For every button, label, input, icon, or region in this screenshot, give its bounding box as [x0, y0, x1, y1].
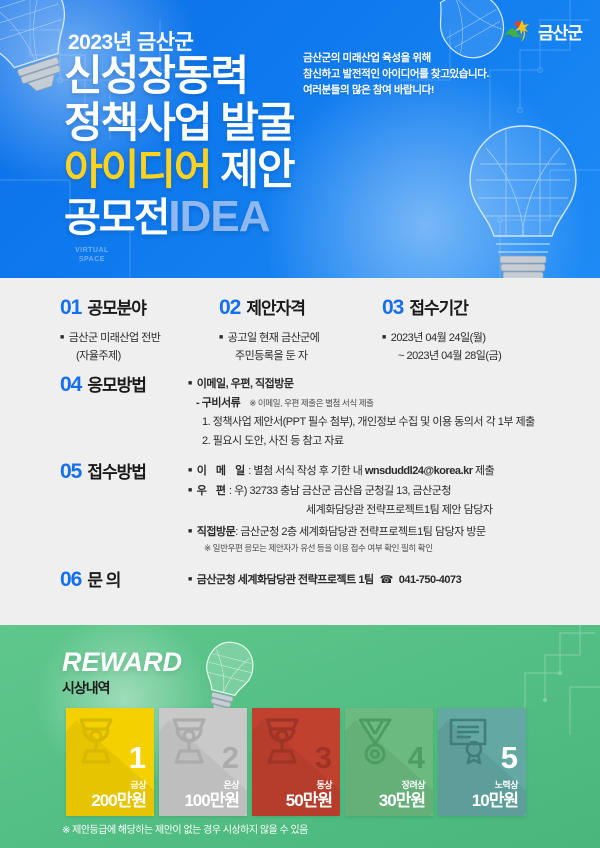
reward-card-4: 4 장려상 30만원 — [345, 708, 433, 816]
section-05-content: 이 메 일: 별첨 서식 작성 후 기한 내 wnsduddl24@korea.… — [188, 458, 494, 554]
trophy-icon — [75, 716, 117, 766]
title-line-4-en: IDEA — [168, 192, 269, 241]
title-line-4-ko: 공모전 — [64, 196, 168, 240]
card-2-amount: 100만원 — [184, 786, 239, 811]
section-05-visit-label: 직접방문 — [197, 523, 235, 542]
section-04-number: 04 — [60, 373, 81, 397]
section-04-docs-header: - 구비서류 ※ 이메일, 우편 제출은 별첨 서식 제출 — [188, 394, 535, 413]
trophy-icon — [168, 716, 210, 766]
section-04-docs-item-2: 2. 필요시 도안, 사진 등 참고 자료 — [188, 432, 535, 451]
title-highlight-idea: 아이디어 — [64, 146, 211, 193]
certificate-icon — [447, 716, 491, 766]
reward-card-3: 3 동상 50만원 — [252, 708, 340, 816]
section-05-visit-note: ※ 일반우편 응모는 제안자가 유선 등을 이용 접수 여부 확인 필히 확인 — [188, 542, 494, 554]
section-05-heading: 05 접수방법 — [60, 458, 188, 484]
section-02-line-2: 주민등록을 둔 자 — [219, 347, 319, 365]
section-03-line-1: 2023년 04월 24일(월) — [382, 329, 501, 347]
section-04-content: 이메일, 우편, 직접방문 - 구비서류 ※ 이메일, 우편 제출은 별첨 서식… — [188, 371, 535, 451]
section-03-heading: 03 접수기간 — [382, 294, 501, 320]
section-03-line-2: ~ 2023년 04월 28일(금) — [382, 347, 501, 365]
card-4-amount: 30만원 — [379, 786, 425, 811]
section-02-title: 제안자격 — [246, 294, 305, 319]
section-05-email-address: wnsduddl24@korea.kr — [365, 465, 473, 477]
reward-note: ※ 제안등급에 해당하는 제안이 없는 경우 시상하지 않을 수 있음 — [62, 821, 308, 836]
watermark-line-2: SPACE — [75, 255, 109, 264]
section-04-docs-label: - 구비서류 — [196, 394, 240, 413]
section-05-email-row: 이 메 일: 별첨 서식 작성 후 기한 내 wnsduddl24@korea.… — [188, 461, 494, 481]
section-05-title: 접수방법 — [87, 458, 146, 483]
section-01-line-1: 금산군 미래산업 전반 — [60, 329, 160, 347]
logo-label: 금산군 — [538, 19, 582, 44]
telephone-icon: ☎ — [380, 574, 393, 586]
title-line-3-rest: 제안 — [211, 146, 294, 193]
section-01-lines: 금산군 미래산업 전반 (자율주제) — [60, 329, 160, 365]
trophy-icon — [261, 716, 303, 766]
section-04-main: 이메일, 우편, 직접방문 — [188, 374, 535, 394]
card-4-rank: 4 — [408, 742, 425, 773]
section-05-number: 05 — [60, 460, 81, 484]
poster-root: 금산군 2023년 금산군 금산군의 미래산업 육성을 위해 참신하고 발전적인… — [0, 0, 600, 848]
section-03-jeopsu-gigan: 03 접수기간 2023년 04월 24일(월) ~ 2023년 04월 28일… — [382, 294, 501, 365]
reward-title-en: REWARD — [62, 647, 182, 677]
medal-icon — [354, 716, 396, 768]
section-05-email-label: 이 메 일 — [197, 462, 248, 481]
section-05-email-prefix: : 별첨 서식 작성 후 기한 내 — [248, 465, 365, 477]
reward-card-5: 5 노력상 10만원 — [438, 708, 526, 816]
section-06-phone: 041-750-4073 — [399, 574, 462, 586]
section-06-contact-row: 금산군청 세계화담당관 전략프로젝트 1팀☎041-750-4073 — [188, 570, 461, 590]
title-line-1: 신성장동력 — [64, 52, 484, 99]
section-02-line-1: 공고일 현재 금산군에 — [219, 329, 319, 347]
title-line-2: 정책사업 발굴 — [64, 99, 484, 146]
card-3-amount: 50만원 — [286, 786, 332, 811]
reward-card-1: 1 금상 200만원 — [66, 708, 154, 816]
section-06-content: 금산군청 세계화담당관 전략프로젝트 1팀☎041-750-4073 — [188, 566, 461, 590]
section-05-visit-text: : 금산군청 2층 세계화담당관 전략프로젝트1팀 담당자 방문 — [235, 526, 485, 538]
section-03-title: 접수기간 — [409, 294, 468, 319]
section-05-post-label: 우 편 — [197, 482, 229, 501]
card-1-rank: 1 — [129, 742, 146, 773]
section-04-eungmo-bangbeop: 04 응모방법 이메일, 우편, 직접방문 - 구비서류 ※ 이메일, 우편 제… — [60, 371, 535, 451]
header-title: 신성장동력 정책사업 발굴 아이디어 제안 공모전IDEA — [64, 52, 484, 242]
watermark-line-1: VIRTUAL — [75, 246, 109, 255]
section-05-post-line-1: : 우) 32733 충남 금산군 금산읍 군청길 13, 금산군청 — [229, 485, 451, 497]
section-05-visit-row: 직접방문: 금산군청 2층 세계화담당관 전략프로젝트1팀 담당자 방문 — [188, 522, 494, 542]
gumsan-mountain-logo-icon — [502, 18, 532, 44]
section-02-number: 02 — [219, 296, 240, 320]
virtual-space-watermark: VIRTUAL SPACE — [75, 246, 109, 264]
card-5-rank: 5 — [501, 742, 518, 773]
section-01-line-2: (자율주제) — [60, 347, 160, 365]
section-01-heading: 01 공모분야 — [60, 294, 160, 320]
gumsan-logo: 금산군 — [502, 18, 582, 44]
card-5-amount: 10만원 — [472, 786, 518, 811]
section-01-title: 공모분야 — [87, 294, 146, 319]
section-03-lines: 2023년 04월 24일(월) ~ 2023년 04월 28일(금) — [382, 329, 501, 365]
card-1-amount: 200만원 — [91, 786, 146, 811]
section-03-number: 03 — [382, 296, 403, 320]
reward-title-ko: 시상내역 — [62, 678, 182, 698]
section-02-lines: 공고일 현재 금산군에 주민등록을 둔 자 — [219, 329, 319, 365]
section-05-email-suffix: 제출 — [472, 465, 494, 477]
title-line-4: 공모전IDEA — [64, 193, 484, 242]
section-06-org: 금산군청 세계화담당관 전략프로젝트 1팀 — [197, 574, 374, 586]
section-04-docs-note: ※ 이메일, 우편 제출은 별첨 서식 제출 — [249, 397, 373, 409]
section-06-title: 문 의 — [87, 566, 120, 591]
section-02-heading: 02 제안자격 — [219, 294, 319, 320]
reward-section: REWARD 시상내역 — [0, 625, 600, 848]
section-06-munui: 06 문 의 금산군청 세계화담당관 전략프로젝트 1팀☎041-750-407… — [60, 566, 461, 592]
section-01-number: 01 — [60, 296, 81, 320]
card-3-rank: 3 — [315, 742, 332, 773]
section-04-docs-item-1: 1. 정책사업 제안서(PPT 필수 첨부), 개인정보 수집 및 이용 동의서… — [188, 413, 535, 432]
section-05-post-line-2: 세계화담당관 전략프로젝트1팀 제안 담당자 — [188, 501, 494, 520]
title-line-3: 아이디어 제안 — [64, 146, 484, 193]
poster-header: 금산군 2023년 금산군 금산군의 미래산업 육성을 위해 참신하고 발전적인… — [0, 0, 600, 278]
section-05-post-row: 우 편: 우) 32733 충남 금산군 금산읍 군청길 13, 금산군청 — [188, 481, 494, 501]
reward-card-2: 2 은상 100만원 — [159, 708, 247, 816]
section-04-title: 응모방법 — [87, 371, 146, 396]
poster-body: 01 공모분야 금산군 미래산업 전반 (자율주제) 02 제안자격 공고일 현… — [0, 278, 600, 625]
section-02-jean-jagyeok: 02 제안자격 공고일 현재 금산군에 주민등록을 둔 자 — [219, 294, 319, 365]
section-06-number: 06 — [60, 568, 81, 592]
reward-cards: 1 금상 200만원 2 은상 100만원 — [66, 708, 526, 816]
card-2-rank: 2 — [222, 742, 239, 773]
reward-heading: REWARD 시상내역 — [62, 647, 182, 698]
section-05-jeopsu-bangbeop: 05 접수방법 이 메 일: 별첨 서식 작성 후 기한 내 wnsduddl2… — [60, 458, 494, 554]
section-01-gongmo-bunya: 01 공모분야 금산군 미래산업 전반 (자율주제) — [60, 294, 160, 365]
section-04-heading: 04 응모방법 — [60, 371, 188, 397]
section-06-heading: 06 문 의 — [60, 566, 188, 592]
